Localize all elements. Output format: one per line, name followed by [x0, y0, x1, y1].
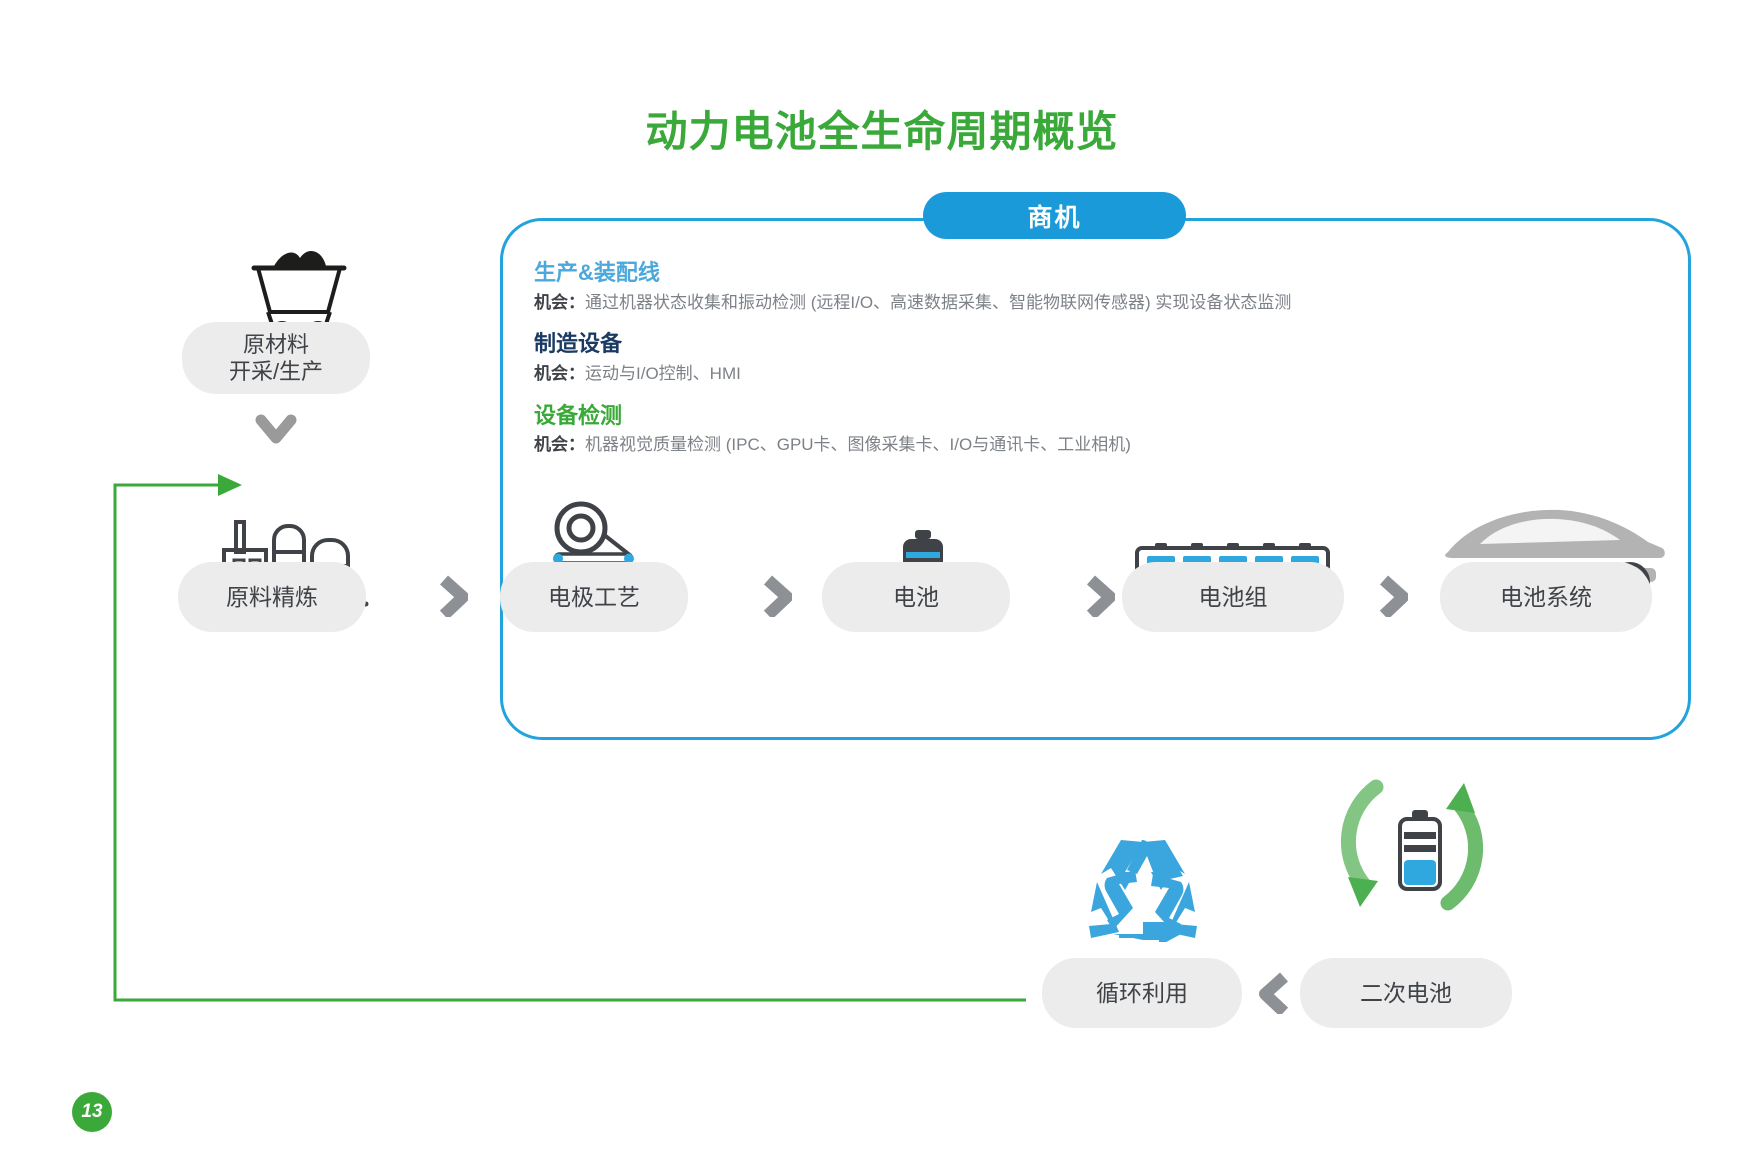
recycle-symbol-icon	[1089, 838, 1197, 942]
opportunity-group-equipment: 制造设备 机会：运动与I/O控制、HMI	[534, 329, 1644, 386]
opportunity-text-production: 通过机器状态收集和振动检测 (远程I/O、高速数据采集、智能物联网传感器) 实现…	[585, 293, 1291, 312]
stage-pill-refining[interactable]: 原料精炼	[178, 562, 366, 632]
stage-label-raw-material-line2: 开采/生产	[229, 358, 323, 386]
opportunity-text-equipment: 运动与I/O控制、HMI	[585, 364, 741, 383]
opportunity-label-equipment: 机会：	[534, 364, 585, 383]
opportunity-label-inspection: 机会：	[534, 435, 585, 454]
chevron-right-2	[762, 575, 792, 617]
opportunity-heading-equipment: 制造设备	[534, 329, 1644, 359]
chevron-right-4	[1378, 575, 1408, 617]
stage-label-second-life: 二次电池	[1360, 979, 1452, 1008]
stage-label-raw-material-line1: 原材料	[229, 331, 323, 359]
page-title: 动力电池全生命周期概览	[0, 98, 1764, 159]
stage-label-electrode: 电极工艺	[548, 583, 640, 612]
chevron-right-3	[1085, 575, 1115, 617]
stage-label-cell: 电池	[893, 583, 939, 612]
slide-canvas: 动力电池全生命周期概览 商机 生产&装配线 机会：通过机器状态收集和振动检测 (…	[0, 0, 1764, 1172]
stage-label-recycling: 循环利用	[1096, 979, 1188, 1008]
opportunity-line-equipment: 机会：运动与I/O控制、HMI	[534, 362, 1644, 387]
opportunity-label-production: 机会：	[534, 293, 585, 312]
chevron-left	[1258, 972, 1288, 1014]
opportunity-heading-production: 生产&装配线	[534, 258, 1644, 288]
page-number-badge: 13	[72, 1092, 112, 1132]
opportunity-line-production: 机会：通过机器状态收集和振动检测 (远程I/O、高速数据采集、智能物联网传感器)…	[534, 291, 1644, 316]
opportunity-text-inspection: 机器视觉质量检测 (IPC、GPU卡、图像采集卡、I/O与通讯卡、工业相机)	[585, 435, 1131, 454]
opportunity-text-block: 生产&装配线 机会：通过机器状态收集和振动检测 (远程I/O、高速数据采集、智能…	[534, 258, 1644, 472]
stage-pill-recycling[interactable]: 循环利用	[1042, 958, 1242, 1028]
stage-label-system: 电池系统	[1500, 583, 1592, 612]
stage-pill-second-life[interactable]: 二次电池	[1300, 958, 1512, 1028]
opportunity-line-inspection: 机会：机器视觉质量检测 (IPC、GPU卡、图像采集卡、I/O与通讯卡、工业相机…	[534, 433, 1644, 458]
opportunity-group-production: 生产&装配线 机会：通过机器状态收集和振动检测 (远程I/O、高速数据采集、智能…	[534, 258, 1644, 315]
chevron-right-1	[438, 575, 468, 617]
second-life-battery-icon	[1390, 810, 1450, 894]
opportunity-group-inspection: 设备检测 机会：机器视觉质量检测 (IPC、GPU卡、图像采集卡、I/O与通讯卡…	[534, 401, 1644, 458]
stage-label-refining: 原料精炼	[226, 583, 318, 612]
opportunity-heading-inspection: 设备检测	[534, 401, 1644, 431]
stage-label-module: 电池组	[1199, 583, 1268, 612]
stage-pill-electrode[interactable]: 电极工艺	[500, 562, 688, 632]
stage-pill-module[interactable]: 电池组	[1122, 562, 1344, 632]
stage-pill-raw-material[interactable]: 原材料 开采/生产	[182, 322, 370, 394]
stage-pill-cell[interactable]: 电池	[822, 562, 1010, 632]
chevron-down-arrow	[255, 412, 297, 452]
stage-pill-system[interactable]: 电池系统	[1440, 562, 1652, 632]
opportunity-badge: 商机	[923, 192, 1186, 239]
